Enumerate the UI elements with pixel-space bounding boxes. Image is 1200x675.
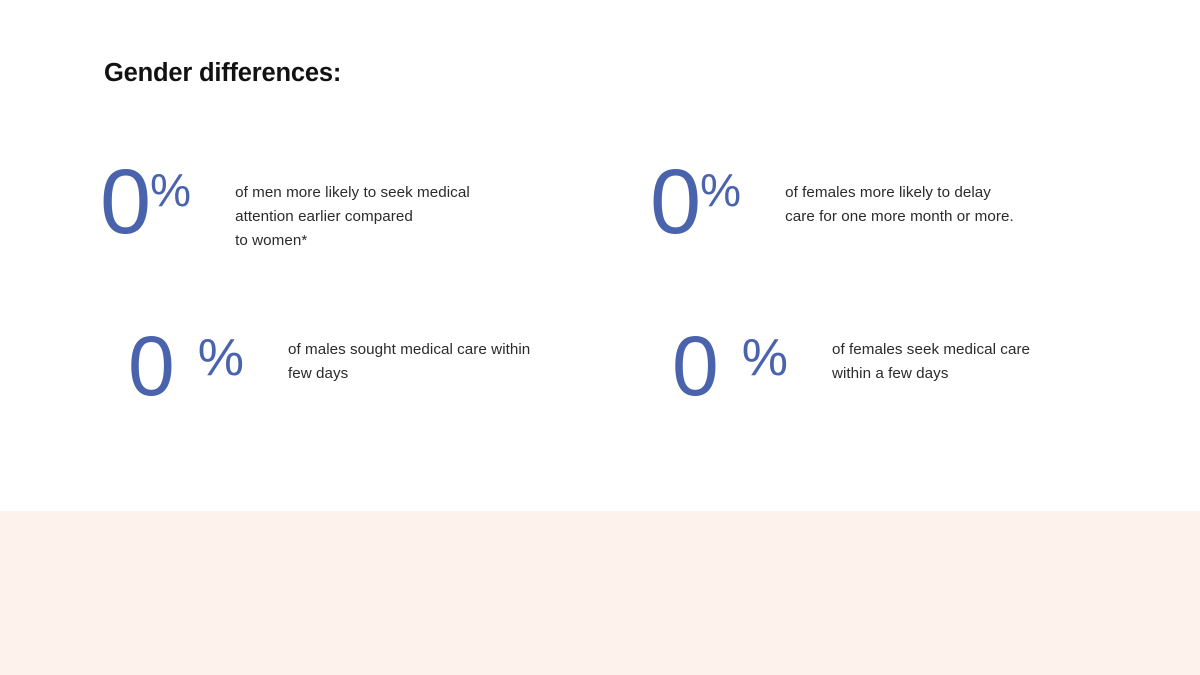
stat-description: of males sought medical care within few … xyxy=(288,338,530,386)
stat-figure: 0 % xyxy=(100,163,191,242)
stat-block-females-care-few-days: 0 % of females seek medical care within … xyxy=(672,330,1030,404)
stat-block-females-delay-care: 0 % of females more likely to delay care… xyxy=(650,163,1014,242)
stat-figure: 0 % xyxy=(128,330,244,404)
stat-description-line: care for one more month or more. xyxy=(785,205,1014,229)
stat-description-line: to women* xyxy=(235,229,470,253)
stat-description-line: of males sought medical care within xyxy=(288,338,530,362)
percent-symbol: % xyxy=(198,332,244,384)
stat-block-males-care-few-days: 0 % of males sought medical care within … xyxy=(128,330,530,404)
bottom-color-band xyxy=(0,511,1200,675)
stat-figure: 0 % xyxy=(650,163,741,242)
statistics-grid: 0 % of men more likely to seek medical a… xyxy=(0,0,1200,511)
stat-description-line: attention earlier compared xyxy=(235,205,470,229)
stat-value: 0 xyxy=(128,330,174,404)
stat-description: of females seek medical care within a fe… xyxy=(832,338,1030,386)
stat-description-line: of men more likely to seek medical xyxy=(235,181,470,205)
stat-description: of men more likely to seek medical atten… xyxy=(235,181,470,252)
stat-block-men-seek-earlier: 0 % of men more likely to seek medical a… xyxy=(100,163,470,252)
stat-description-line: within a few days xyxy=(832,362,1030,386)
stat-value: 0 xyxy=(100,163,149,242)
stat-description-line: few days xyxy=(288,362,530,386)
slide-root: Gender differences: 0 % of men more like… xyxy=(0,0,1200,675)
percent-symbol: % xyxy=(700,167,741,213)
stat-value: 0 xyxy=(672,330,718,404)
stat-description-line: of females seek medical care xyxy=(832,338,1030,362)
stat-value: 0 xyxy=(650,163,699,242)
percent-symbol: % xyxy=(150,167,191,213)
percent-symbol: % xyxy=(742,332,788,384)
stat-figure: 0 % xyxy=(672,330,788,404)
stat-description: of females more likely to delay care for… xyxy=(785,181,1014,229)
stat-description-line: of females more likely to delay xyxy=(785,181,1014,205)
